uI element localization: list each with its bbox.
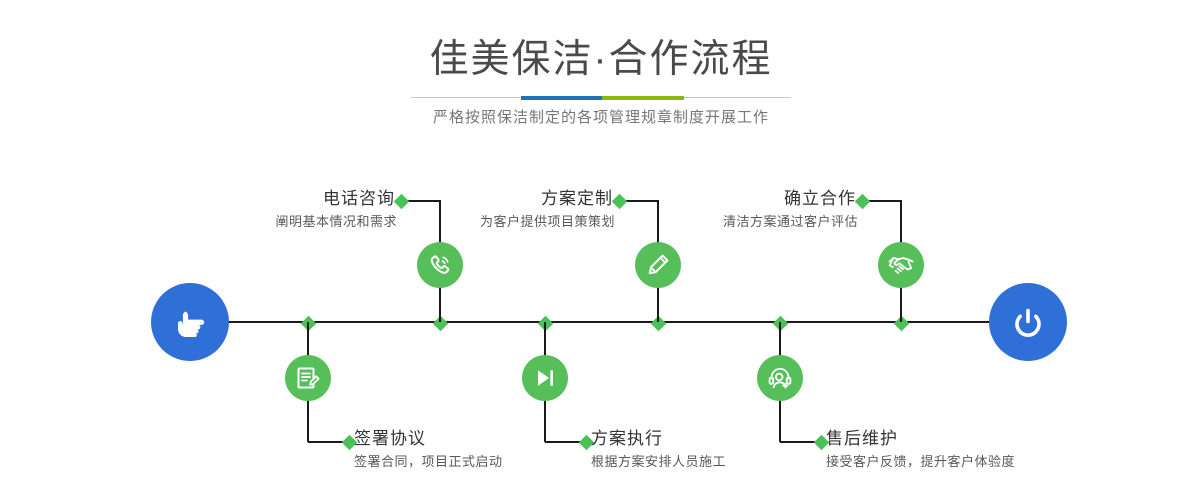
- pointing-hand-icon: [151, 283, 229, 361]
- step-title: 确立合作: [568, 188, 858, 210]
- customer-support-icon: [757, 355, 803, 401]
- power-icon: [989, 283, 1067, 361]
- infographic-page: 佳美保洁·合作流程 严格按照保洁制定的各项管理规章制度开展工作: [0, 0, 1202, 502]
- step-label-6: 售后维护 接受客户反馈，提升客户体验度: [826, 428, 1146, 472]
- step-title: 售后维护: [826, 428, 1146, 450]
- document-edit-icon: [285, 355, 331, 401]
- step-desc: 接受客户反馈，提升客户体验度: [826, 452, 1146, 472]
- pencil-edit-icon: [635, 242, 681, 288]
- play-skip-icon: [522, 355, 568, 401]
- process-timeline: 电话咨询 阐明基本情况和需求 签署协议 签署合同，项目正式启动: [0, 0, 1202, 502]
- step-desc: 清洁方案通过客户评估: [568, 212, 858, 232]
- timeline-axis: [228, 321, 990, 323]
- handshake-icon: [878, 242, 924, 288]
- step-label-5: 确立合作 清洁方案通过客户评估: [568, 188, 858, 232]
- phone-call-icon: [417, 242, 463, 288]
